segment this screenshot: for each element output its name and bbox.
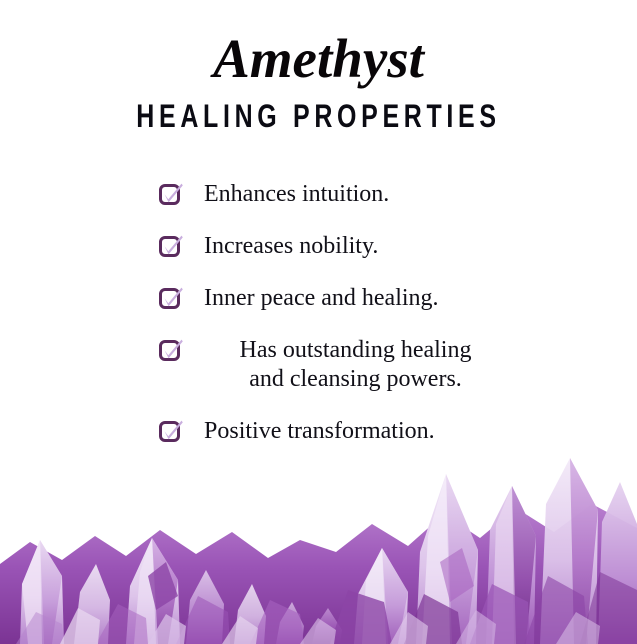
checkbox-checked-icon	[160, 340, 182, 362]
poster-canvas: Amethyst HEALING PROPERTIES Enhances int…	[0, 0, 637, 644]
healing-properties-list: Enhances intuition. Increases nobility. …	[0, 180, 637, 447]
list-item-label: Positive transformation.	[182, 417, 637, 446]
page-subtitle: HEALING PROPERTIES	[70, 88, 567, 132]
list-item-label: Inner peace and healing.	[182, 284, 637, 313]
list-item: Has outstanding healing and cleansing po…	[0, 336, 637, 395]
list-item-label: Increases nobility.	[182, 232, 637, 261]
list-item: Inner peace and healing.	[0, 284, 637, 314]
list-item: Increases nobility.	[0, 232, 637, 262]
list-item: Positive transformation.	[0, 417, 637, 447]
poster-header: Amethyst HEALING PROPERTIES	[0, 0, 637, 132]
checkbox-checked-icon	[160, 421, 182, 443]
checkbox-checked-icon	[160, 288, 182, 310]
list-item: Enhances intuition.	[0, 180, 637, 210]
amethyst-crystal-cluster-photo	[0, 444, 637, 644]
checkbox-checked-icon	[160, 184, 182, 206]
checkbox-checked-icon	[160, 236, 182, 258]
list-item-label: Enhances intuition.	[182, 180, 637, 209]
page-title: Amethyst	[0, 30, 637, 88]
list-item-label: Has outstanding healing and cleansing po…	[182, 336, 637, 395]
